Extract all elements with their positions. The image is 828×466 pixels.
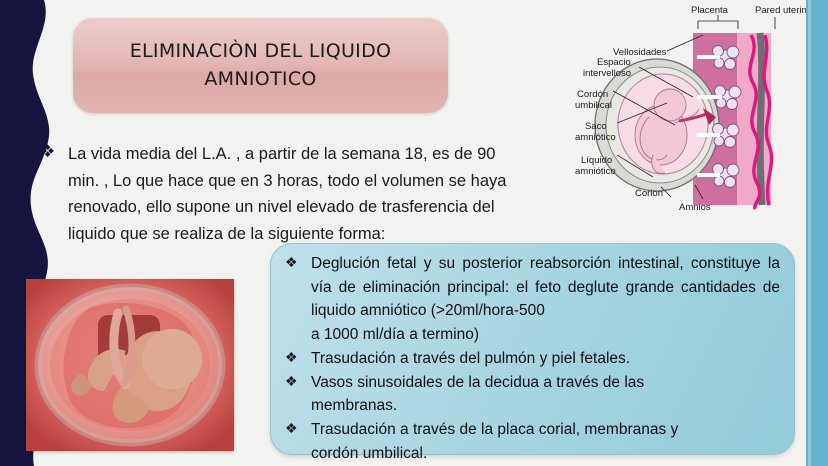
diagram-label-espacio-1: Espacio (597, 57, 631, 68)
list-item-tail: membranas. (311, 394, 780, 418)
paragraph-line-2: min. , Lo que hace que en 3 horas, todo … (68, 168, 580, 195)
main-paragraph: La vida media del L.A. , a partir de la … (68, 141, 580, 248)
diagram-label-corion: Corion (635, 188, 663, 199)
slide-canvas: ELIMINACIÒN DEL LIQUIDO AMNIOTICO ❖ La v… (0, 0, 828, 466)
diagram-label-liquido-1: Líquido (581, 155, 612, 166)
diagram-label-pared-uterina: Pared uterina (755, 5, 807, 16)
diagram-label-liquido-2: amniótico (575, 166, 616, 177)
diagram-label-cordon-2: umbilical (575, 100, 612, 111)
paragraph-bullet-icon: ❖ (40, 143, 55, 160)
title-box: ELIMINACIÒN DEL LIQUIDO AMNIOTICO (73, 18, 448, 113)
list-item-text: Trasudación a través del pulmón y piel f… (311, 350, 630, 367)
list-item-text: Trasudación a través de la placa corial,… (311, 421, 678, 438)
bullet-diamond-icon: ❖ (285, 252, 298, 274)
list-item-text: Deglución fetal y su posterior reabsorci… (311, 255, 780, 319)
teal-bar-highlight-stripe (808, 0, 811, 466)
diagram-label-placenta: Placenta (691, 5, 729, 16)
list-item: ❖ Vasos sinusoidales de la decidua a tra… (281, 371, 780, 418)
fetus-in-amnion-photo (26, 279, 234, 451)
title-line-2: AMNIOTICO (204, 68, 316, 90)
bullet-diamond-icon: ❖ (285, 347, 298, 369)
paragraph-line-1: La vida media del L.A. , a partir de la … (68, 141, 580, 168)
placenta-anatomy-diagram: Placenta Pared uterina Vellosidades Espa… (575, 5, 807, 233)
diagram-label-saco-1: Saco (585, 121, 607, 132)
diagram-label-saco-2: amniótico (575, 132, 616, 143)
right-teal-accent-bar (806, 0, 828, 466)
list-item: ❖ Deglución fetal y su posterior reabsor… (281, 252, 780, 347)
list-item-tail: a 1000 ml/día a termino) (311, 323, 780, 347)
list-item-text: Vasos sinusoidales de la decidua a travé… (311, 374, 644, 391)
list-item: ❖ Trasudación a través del pulmón y piel… (281, 347, 780, 371)
list-item-tail: cordón umbilical. (311, 442, 780, 466)
elimination-routes-list: ❖ Deglución fetal y su posterior reabsor… (281, 252, 780, 465)
diagram-label-cordon-1: Cordón (577, 89, 608, 100)
page-title: ELIMINACIÒN DEL LIQUIDO AMNIOTICO (112, 38, 410, 93)
title-line-1: ELIMINACIÒN DEL LIQUIDO (130, 40, 392, 62)
list-item: ❖ Trasudación a través de la placa coria… (281, 418, 780, 465)
elimination-routes-callout: ❖ Deglución fetal y su posterior reabsor… (270, 243, 795, 455)
diagram-label-amnios: Amnios (679, 202, 711, 213)
bullet-diamond-icon: ❖ (285, 371, 298, 393)
paragraph-line-3: renovado, ello supone un nivel elevado d… (68, 194, 580, 221)
bullet-diamond-icon: ❖ (285, 418, 298, 440)
diagram-label-espacio-2: intervelloso (583, 68, 631, 79)
